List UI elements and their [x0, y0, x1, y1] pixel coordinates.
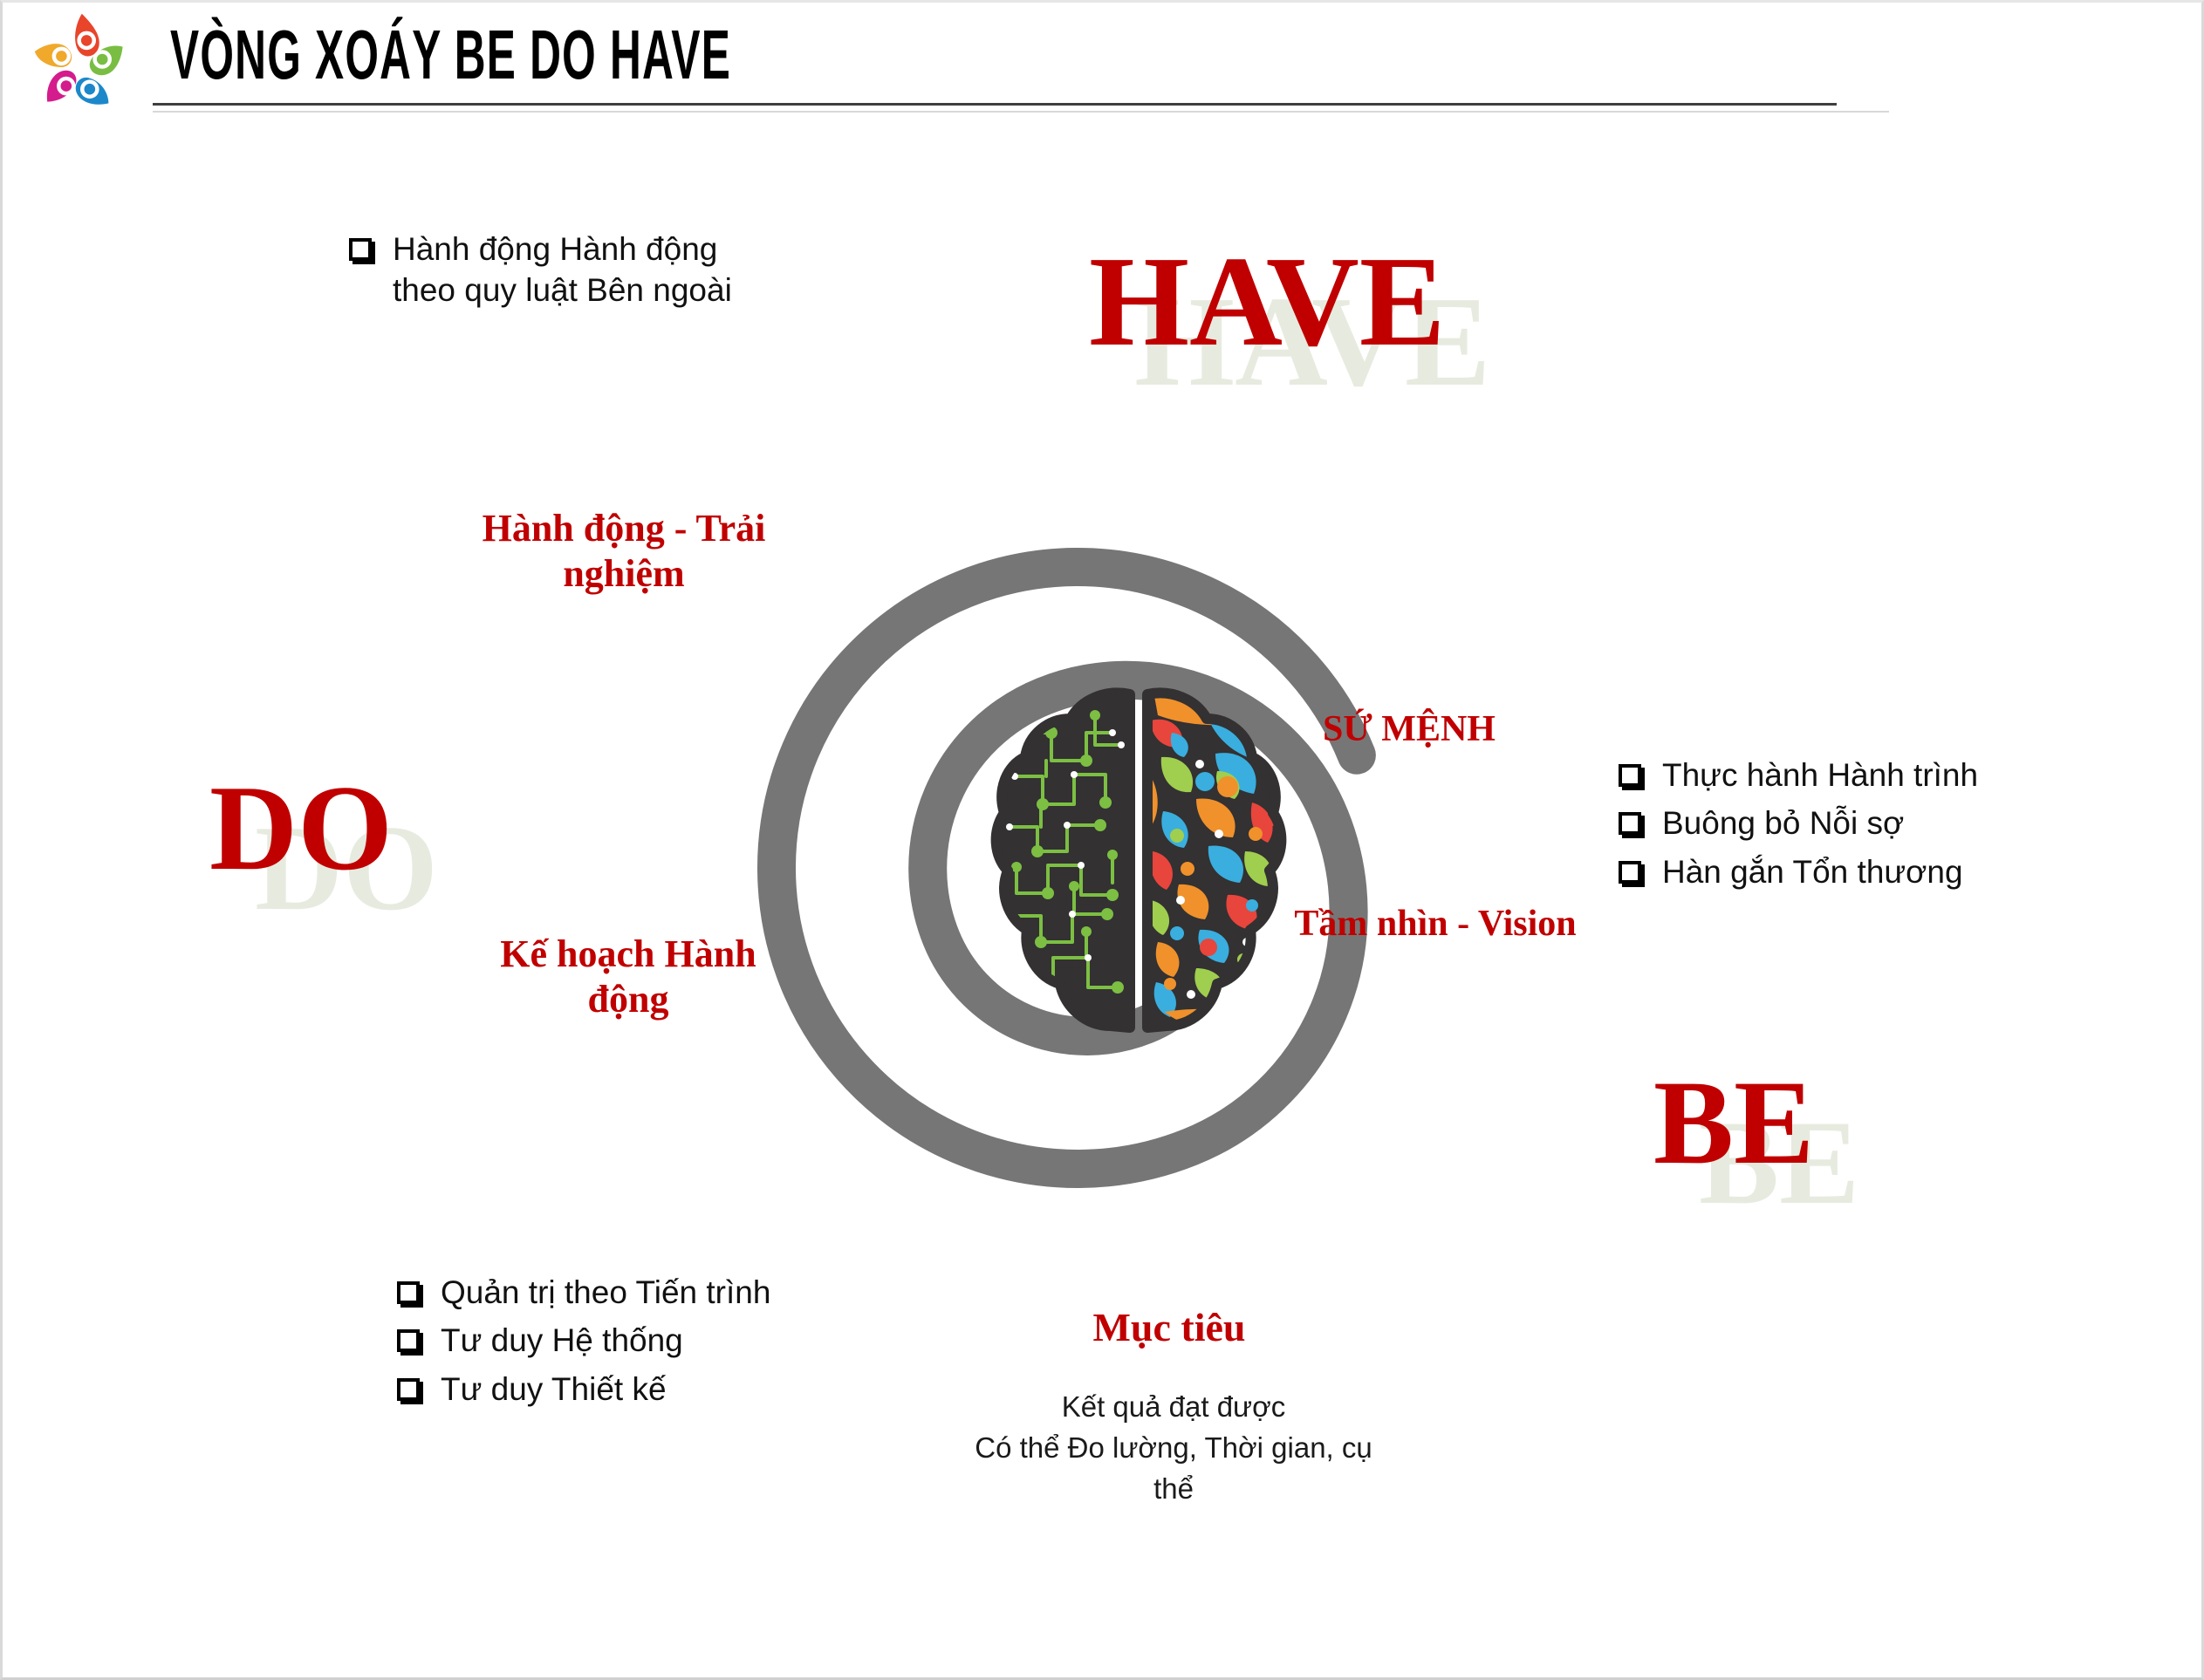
- checkbox-icon[interactable]: [1619, 861, 1641, 884]
- caption-muc-tieu: Mục tiêu: [995, 1304, 1344, 1351]
- list-item-label: Buông bỏ Nỗi sợ: [1662, 802, 1904, 843]
- muc-tieu-note: Kết quả đạt được Có thể Đo lường, Thời g…: [969, 1387, 1379, 1510]
- word-be-label: BE: [1653, 1055, 1814, 1189]
- list-item[interactable]: Hàn gắn Tổn thương: [1619, 851, 1978, 892]
- list-item-label: Quản trị theo Tiến trình: [441, 1272, 770, 1313]
- page-header: VÒNG XOÁY BE DO HAVE: [0, 0, 2204, 126]
- list-top-left: Hành động Hành động theo quy luật Bên ng…: [349, 229, 732, 318]
- checkbox-icon[interactable]: [397, 1378, 420, 1401]
- checkbox-icon[interactable]: [1619, 764, 1641, 787]
- caption-tam-nhin-vision: Tầm nhìn - Vision: [1291, 903, 1579, 946]
- word-have: HAVE HAVE: [1089, 237, 1446, 366]
- list-item-label: Hàn gắn Tổn thương: [1662, 851, 1963, 892]
- checkbox-icon[interactable]: [1619, 812, 1641, 835]
- list-item[interactable]: Quản trị theo Tiến trình: [397, 1272, 770, 1313]
- list-item[interactable]: Tư duy Thiết kế: [397, 1369, 770, 1410]
- caption-ke-hoach-hanh-dong: Kế hoạch Hành động: [462, 932, 794, 1022]
- list-item-label: Hành động Hành động theo quy luật Bên ng…: [393, 229, 732, 311]
- word-do-label: DO: [209, 761, 393, 896]
- checkbox-icon[interactable]: [397, 1329, 420, 1352]
- page-title: VÒNG XOÁY BE DO HAVE: [170, 17, 731, 92]
- title-divider-secondary: [153, 111, 1889, 113]
- list-item[interactable]: Hành động Hành động theo quy luật Bên ng…: [349, 229, 732, 311]
- list-bottom-left: Quản trị theo Tiến trình Tư duy Hệ thống…: [397, 1272, 770, 1417]
- list-item-label: Tư duy Hệ thống: [441, 1320, 683, 1361]
- list-item[interactable]: Buông bỏ Nỗi sợ: [1619, 802, 1978, 843]
- title-divider: [153, 103, 1837, 106]
- checkbox-icon[interactable]: [397, 1281, 420, 1304]
- checkbox-icon[interactable]: [349, 238, 372, 261]
- half-circuit-half-creative-brain: [990, 680, 1287, 1055]
- list-right: Thực hành Hành trình Buông bỏ Nỗi sợ Hàn…: [1619, 755, 1978, 899]
- list-item[interactable]: Tư duy Hệ thống: [397, 1320, 770, 1361]
- caption-su-menh: SỨ MỆNH: [1322, 708, 1496, 752]
- caption-hanh-dong-trai-nghiem: Hành động - Trải nghiệm: [454, 506, 794, 597]
- word-be: BE BE: [1653, 1062, 1814, 1183]
- list-item[interactable]: Thực hành Hành trình: [1619, 755, 1978, 796]
- list-item-label: Tư duy Thiết kế: [441, 1369, 667, 1410]
- list-item-label: Thực hành Hành trình: [1662, 755, 1978, 796]
- five-petal-people-logo: [33, 10, 127, 108]
- word-do: DO DO: [209, 768, 393, 890]
- word-have-label: HAVE: [1089, 230, 1446, 373]
